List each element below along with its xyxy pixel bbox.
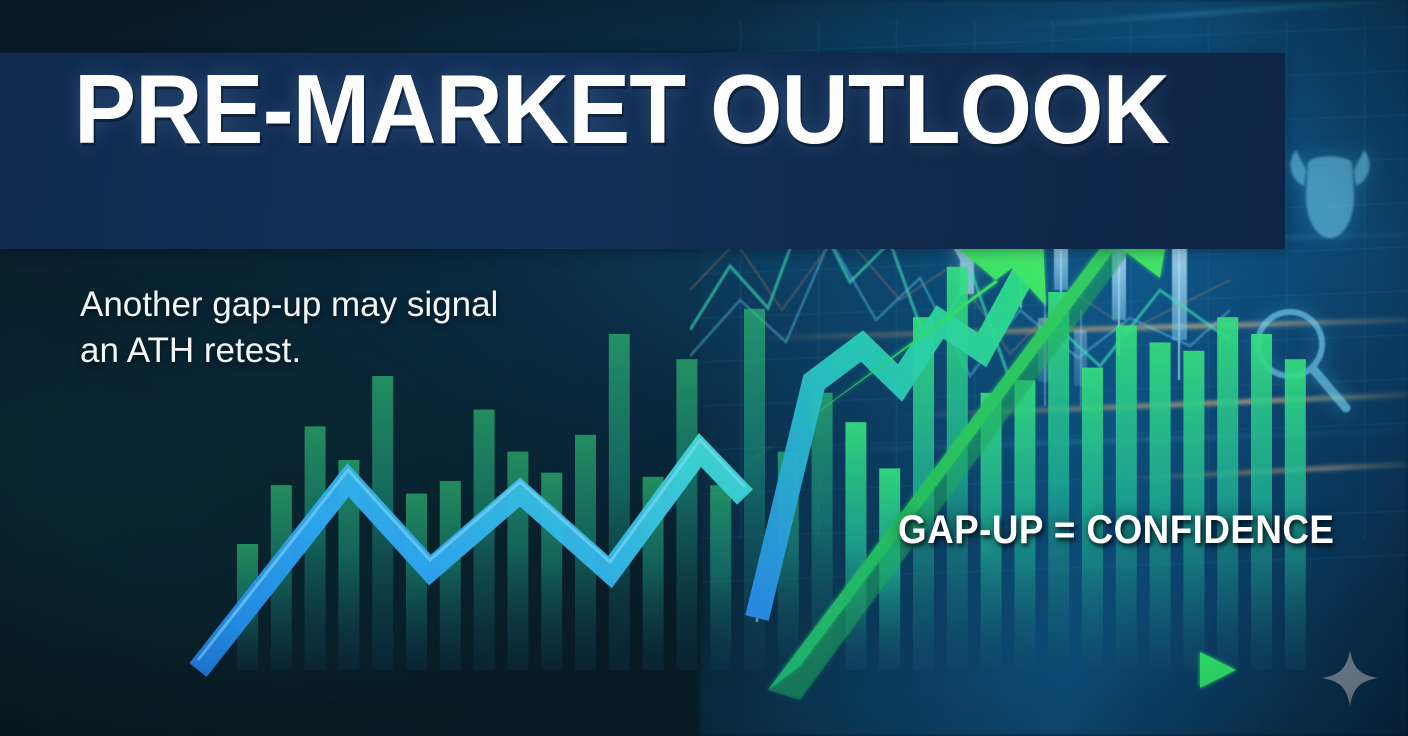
bar [676,359,697,670]
bar [1217,317,1238,670]
page-title: PRE-MARKET OUTLOOK [74,60,1169,158]
bar [609,334,630,670]
bar [1251,334,1272,670]
bar [406,494,427,670]
x-axis [170,652,1236,688]
sparkle-icon [1322,650,1378,706]
bar [440,481,461,670]
bar [1150,342,1171,670]
poster-canvas: PRE-MARKET OUTLOOK Another gap-up may si… [0,0,1408,736]
bar [1116,326,1137,670]
bar [710,485,731,670]
tagline-text: GAP-UP = CONFIDENCE [898,508,1334,553]
subtitle-text: Another gap-up may signal an ATH retest. [80,282,498,374]
